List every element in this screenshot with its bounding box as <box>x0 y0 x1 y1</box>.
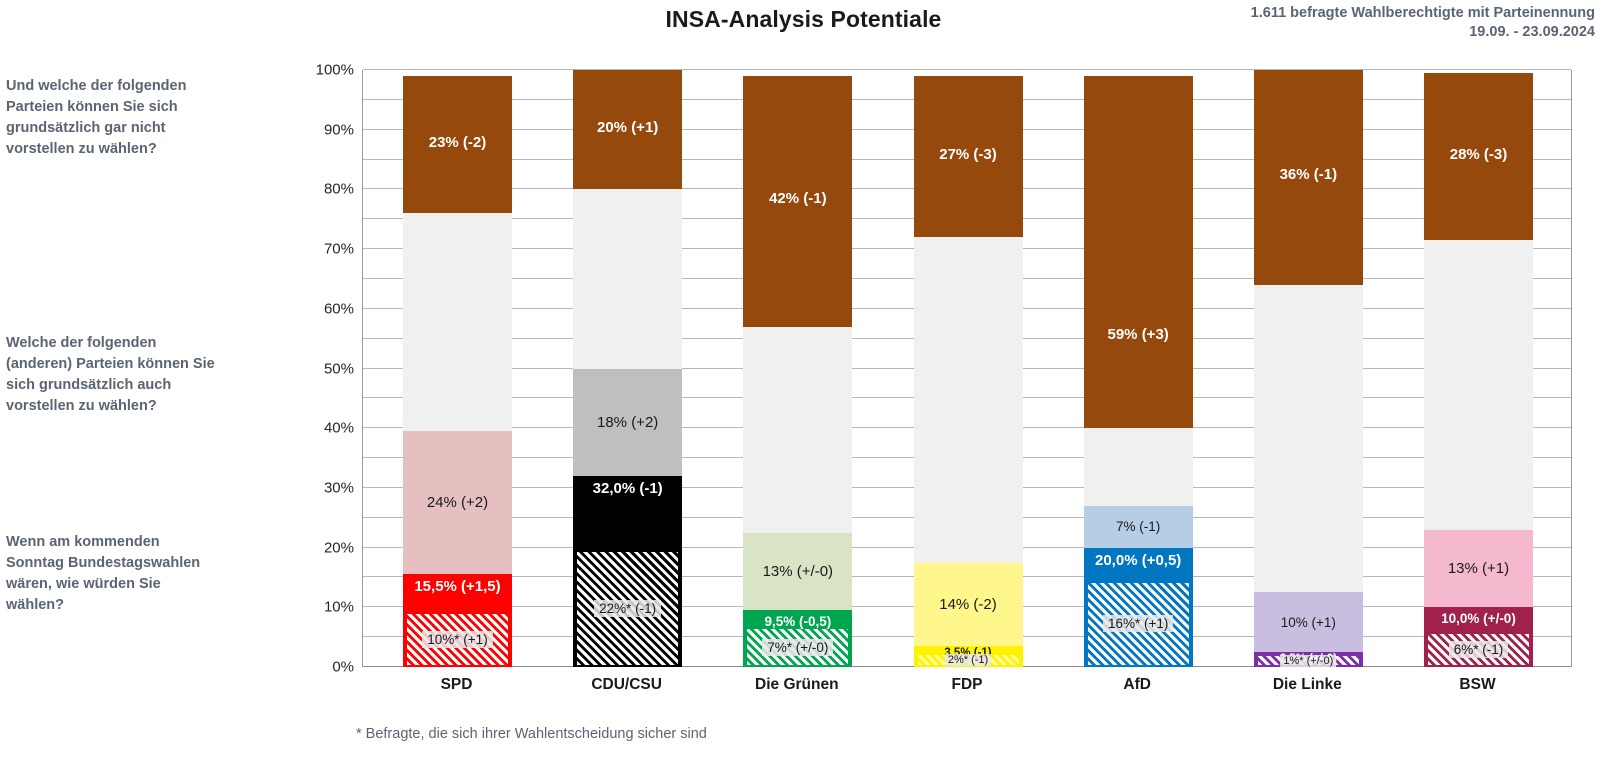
bar-segment-never-spd[interactable]: 23% (-2) <box>403 76 512 213</box>
sure-voter-label-spd: 10%* (+1) <box>422 631 492 648</box>
y-axis-tick-90: 90% <box>284 121 354 138</box>
sure-voter-label-die-linke: 1%* (+/-0) <box>1280 655 1336 667</box>
bar-column-fdp[interactable]: 3,5% (-1)2%* (-1)14% (-2)27% (-3) <box>914 70 1023 667</box>
bar-label-vote-spd: 15,5% (+1,5) <box>403 578 512 595</box>
y-axis-tick-80: 80% <box>284 181 354 198</box>
y-axis-tick-50: 50% <box>284 360 354 377</box>
sure-voter-box-die-linke[interactable]: 1%* (+/-0) <box>1258 656 1359 665</box>
bar-segment-vote-cdu-csu[interactable]: 32,0% (-1)22%* (-1) <box>573 476 682 667</box>
bar-column-cdu-csu[interactable]: 32,0% (-1)22%* (-1)18% (+2)20% (+1) <box>573 70 682 667</box>
sure-voter-box-bsw[interactable]: 6%* (-1) <box>1428 634 1529 665</box>
bar-label-also-fdp: 14% (-2) <box>939 596 997 613</box>
sure-voter-box-cdu-csu[interactable]: 22%* (-1) <box>577 552 678 665</box>
bar-segment-neutral-fdp[interactable] <box>914 237 1023 562</box>
bar-segment-also-die-linke[interactable]: 10% (+1) <box>1254 592 1363 652</box>
x-axis-label-bsw: BSW <box>1398 676 1558 694</box>
bar-segment-neutral-die-linke[interactable] <box>1254 285 1363 592</box>
bar-segment-neutral-spd[interactable] <box>403 213 512 431</box>
x-axis-label-cdu-csu: CDU/CSU <box>547 676 707 694</box>
y-axis-tick-0: 0% <box>284 659 354 676</box>
bar-label-never-cdu-csu: 20% (+1) <box>573 119 682 136</box>
bar-segment-vote-die-linke[interactable]: 2,5% (+/-0)1%* (+/-0) <box>1254 652 1363 667</box>
sure-voter-label-die-gr-nen: 7%* (+/-0) <box>762 639 833 656</box>
bar-segment-neutral-die-gr-nen[interactable] <box>743 327 852 533</box>
bar-segment-never-bsw[interactable]: 28% (-3) <box>1424 73 1533 240</box>
bar-segment-vote-spd[interactable]: 15,5% (+1,5)10%* (+1) <box>403 574 512 667</box>
bar-segment-also-bsw[interactable]: 13% (+1) <box>1424 530 1533 608</box>
bar-label-never-bsw: 28% (-3) <box>1424 146 1533 163</box>
bar-label-vote-cdu-csu: 32,0% (-1) <box>573 480 682 497</box>
y-axis-tick-60: 60% <box>284 300 354 317</box>
footnote: * Befragte, die sich ihrer Wahlentscheid… <box>356 726 707 742</box>
bar-segment-also-spd[interactable]: 24% (+2) <box>403 431 512 574</box>
survey-meta-respondents: 1.611 befragte Wahlberechtigte mit Parte… <box>1251 4 1595 23</box>
bar-label-also-bsw: 13% (+1) <box>1448 560 1509 577</box>
question-sonntagsfrage: Wenn am kommenden Sonntag Bundestagswahl… <box>6 532 221 616</box>
bar-label-also-die-gr-nen: 13% (+/-0) <box>763 563 833 580</box>
bar-segment-also-fdp[interactable]: 14% (-2) <box>914 563 1023 647</box>
bar-label-also-spd: 24% (+2) <box>427 494 488 511</box>
sure-voter-label-fdp: 2%* (-1) <box>945 654 991 666</box>
sure-voter-box-afd[interactable]: 16%* (+1) <box>1088 583 1189 665</box>
bar-segment-vote-bsw[interactable]: 10,0% (+/-0)6%* (-1) <box>1424 607 1533 667</box>
bar-label-never-die-linke: 36% (-1) <box>1254 166 1363 183</box>
bar-label-also-die-linke: 10% (+1) <box>1281 615 1336 630</box>
bar-segment-never-die-gr-nen[interactable]: 42% (-1) <box>743 76 852 327</box>
y-axis-tick-30: 30% <box>284 479 354 496</box>
sure-voter-label-afd: 16%* (+1) <box>1103 615 1173 632</box>
bar-label-vote-afd: 20,0% (+0,5) <box>1084 552 1193 569</box>
bar-segment-also-afd[interactable]: 7% (-1) <box>1084 506 1193 548</box>
bar-segment-vote-die-gr-nen[interactable]: 9,5% (-0,5)7%* (+/-0) <box>743 610 852 667</box>
y-axis-tick-70: 70% <box>284 241 354 258</box>
bar-segment-never-fdp[interactable]: 27% (-3) <box>914 76 1023 237</box>
bar-column-die-linke[interactable]: 2,5% (+/-0)1%* (+/-0)10% (+1)36% (-1) <box>1254 70 1363 667</box>
bar-segment-neutral-cdu-csu[interactable] <box>573 189 682 368</box>
bar-segment-never-afd[interactable]: 59% (+3) <box>1084 76 1193 428</box>
survey-meta-dates: 19.09. - 23.09.2024 <box>1251 23 1595 42</box>
sure-voter-label-bsw: 6%* (-1) <box>1449 641 1509 658</box>
bar-label-vote-bsw: 10,0% (+/-0) <box>1424 611 1533 626</box>
x-axis-label-die-gr-nen: Die Grünen <box>717 676 877 694</box>
question-gar-nicht: Und welche der folgenden Parteien können… <box>6 76 221 160</box>
bar-segment-also-die-gr-nen[interactable]: 13% (+/-0) <box>743 533 852 611</box>
x-axis-label-spd: SPD <box>377 676 537 694</box>
bar-segment-vote-fdp[interactable]: 3,5% (-1)2%* (-1) <box>914 646 1023 667</box>
bar-label-never-spd: 23% (-2) <box>403 134 512 151</box>
question-auch-vorstellen: Welche der folgenden (anderen) Parteien … <box>6 333 221 417</box>
survey-meta: 1.611 befragte Wahlberechtigte mit Parte… <box>1251 4 1595 41</box>
y-axis-tick-10: 10% <box>284 599 354 616</box>
bar-label-never-fdp: 27% (-3) <box>914 146 1023 163</box>
sure-voter-box-die-gr-nen[interactable]: 7%* (+/-0) <box>747 629 848 665</box>
x-axis-label-die-linke: Die Linke <box>1227 676 1387 694</box>
bar-segment-neutral-bsw[interactable] <box>1424 240 1533 530</box>
bar-label-never-die-gr-nen: 42% (-1) <box>743 190 852 207</box>
bar-label-never-afd: 59% (+3) <box>1084 326 1193 343</box>
x-axis-label-afd: AfD <box>1057 676 1217 694</box>
sure-voter-label-cdu-csu: 22%* (-1) <box>594 600 661 617</box>
bar-label-also-cdu-csu: 18% (+2) <box>597 414 658 431</box>
chart-plot-area: 15,5% (+1,5)10%* (+1)24% (+2)23% (-2)32,… <box>362 70 1572 667</box>
x-axis-label-fdp: FDP <box>887 676 1047 694</box>
bar-segment-never-cdu-csu[interactable]: 20% (+1) <box>573 70 682 189</box>
sure-voter-box-fdp[interactable]: 2%* (-1) <box>918 655 1019 665</box>
y-axis-tick-100: 100% <box>284 62 354 79</box>
bar-column-die-gr-nen[interactable]: 9,5% (-0,5)7%* (+/-0)13% (+/-0)42% (-1) <box>743 70 852 667</box>
bar-segment-vote-afd[interactable]: 20,0% (+0,5)16%* (+1) <box>1084 548 1193 667</box>
y-axis-tick-40: 40% <box>284 420 354 437</box>
bar-segment-also-cdu-csu[interactable]: 18% (+2) <box>573 369 682 476</box>
bar-label-vote-die-gr-nen: 9,5% (-0,5) <box>743 614 852 629</box>
y-axis-tick-20: 20% <box>284 539 354 556</box>
bar-column-spd[interactable]: 15,5% (+1,5)10%* (+1)24% (+2)23% (-2) <box>403 70 512 667</box>
bar-segment-neutral-afd[interactable] <box>1084 428 1193 506</box>
bar-label-also-afd: 7% (-1) <box>1116 519 1160 534</box>
bar-column-afd[interactable]: 20,0% (+0,5)16%* (+1)7% (-1)59% (+3) <box>1084 70 1193 667</box>
bar-segment-never-die-linke[interactable]: 36% (-1) <box>1254 70 1363 285</box>
bar-column-bsw[interactable]: 10,0% (+/-0)6%* (-1)13% (+1)28% (-3) <box>1424 70 1533 667</box>
sure-voter-box-spd[interactable]: 10%* (+1) <box>407 614 508 665</box>
